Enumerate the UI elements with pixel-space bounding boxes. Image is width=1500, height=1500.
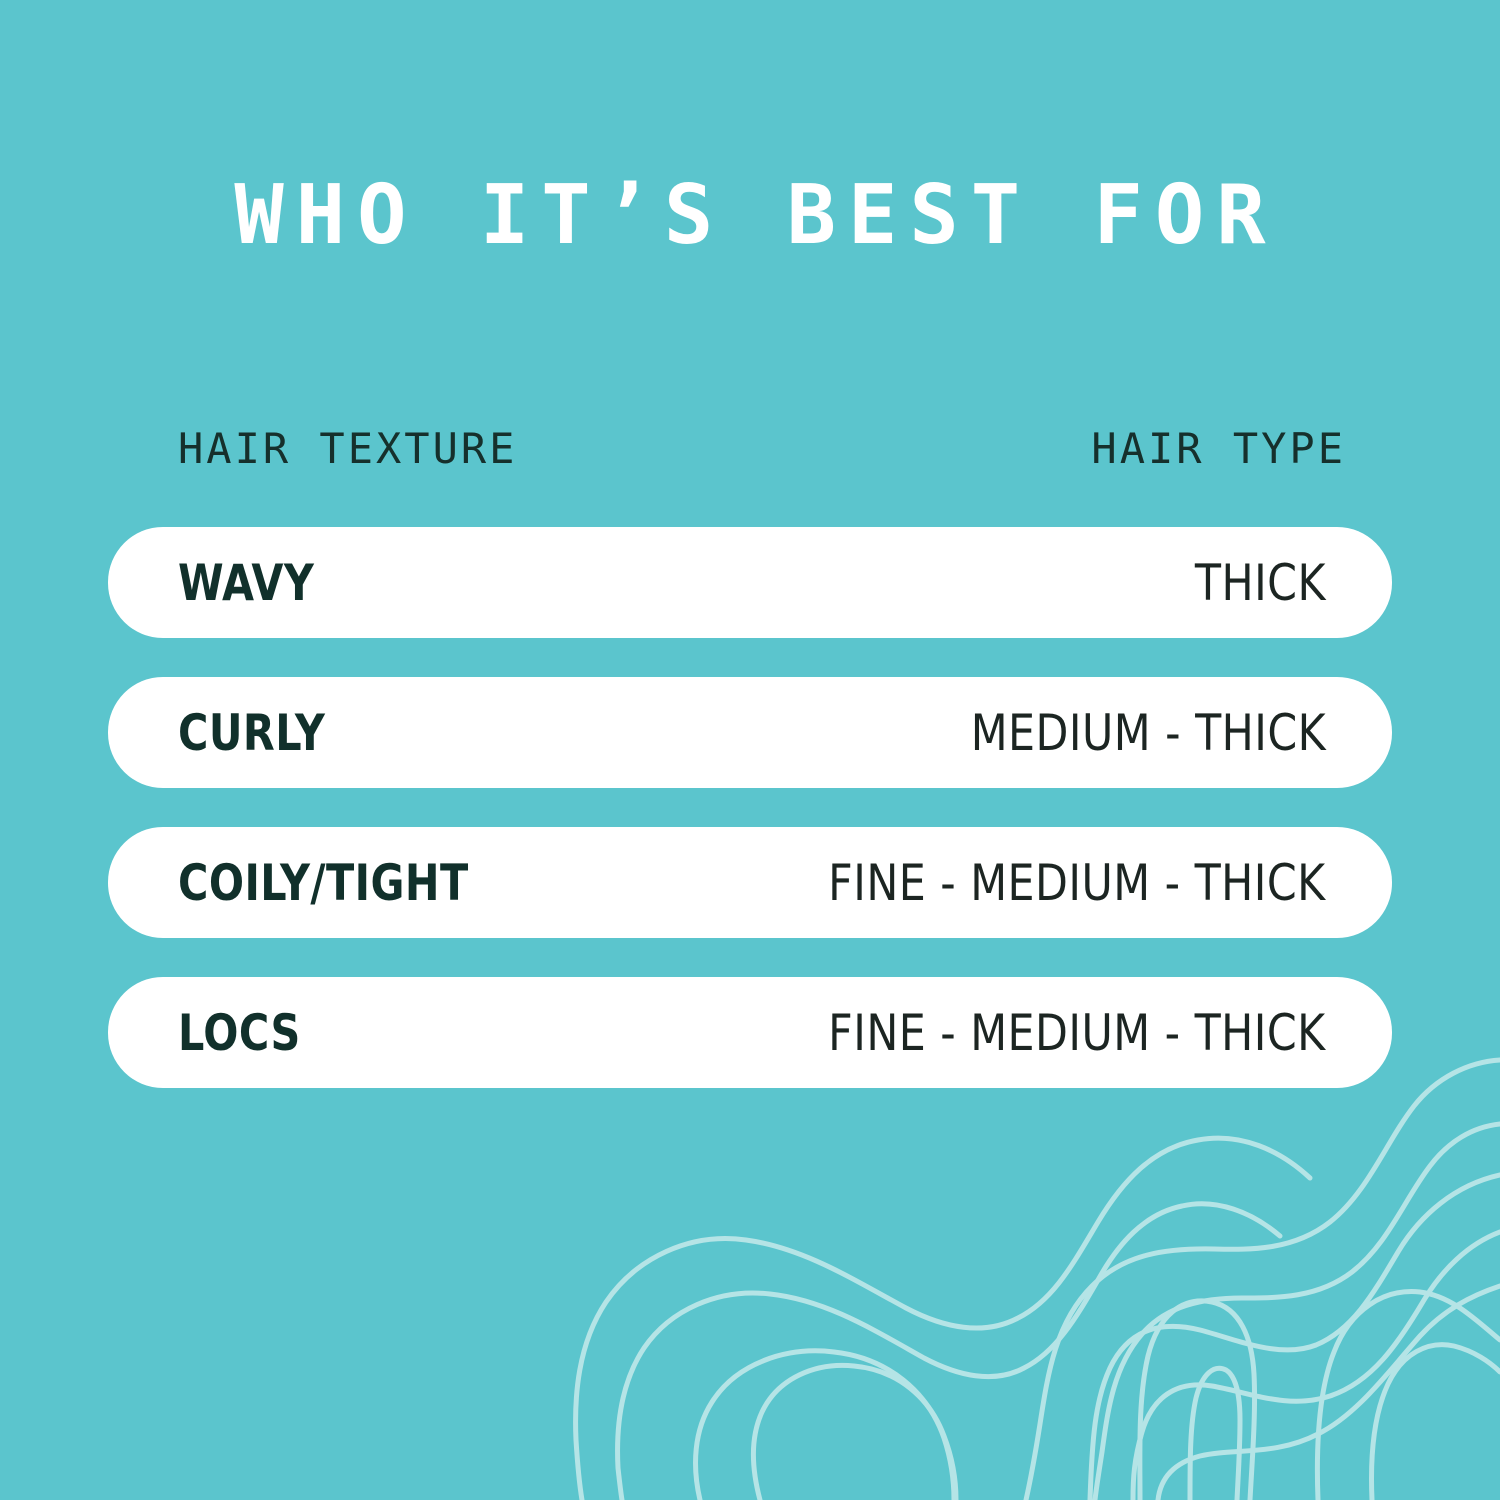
hair-texture-value: LOCS	[178, 1005, 301, 1061]
hair-compatibility-table: WAVY THICK CURLY MEDIUM - THICK COILY/TI…	[108, 527, 1392, 1088]
hair-type-value: MEDIUM - THICK	[971, 705, 1326, 761]
column-header-hair-texture: HAIR TEXTURE	[178, 424, 517, 474]
table-row: COILY/TIGHT FINE - MEDIUM - THICK	[108, 827, 1392, 938]
hair-texture-value: WAVY	[178, 555, 314, 611]
infographic-canvas: WHO IT’S BEST FOR HAIR TEXTURE HAIR TYPE…	[0, 0, 1500, 1500]
hair-texture-value: CURLY	[178, 705, 325, 761]
column-headers: HAIR TEXTURE HAIR TYPE	[178, 424, 1346, 474]
page-title: WHO IT’S BEST FOR	[0, 168, 1500, 264]
hair-type-value: FINE - MEDIUM - THICK	[829, 1005, 1326, 1061]
table-row: CURLY MEDIUM - THICK	[108, 677, 1392, 788]
hair-type-value: FINE - MEDIUM - THICK	[829, 855, 1326, 911]
hair-texture-value: COILY/TIGHT	[178, 855, 469, 911]
table-row: LOCS FINE - MEDIUM - THICK	[108, 977, 1392, 1088]
hair-type-value: THICK	[1195, 555, 1326, 611]
column-header-hair-type: HAIR TYPE	[1091, 424, 1346, 474]
table-row: WAVY THICK	[108, 527, 1392, 638]
